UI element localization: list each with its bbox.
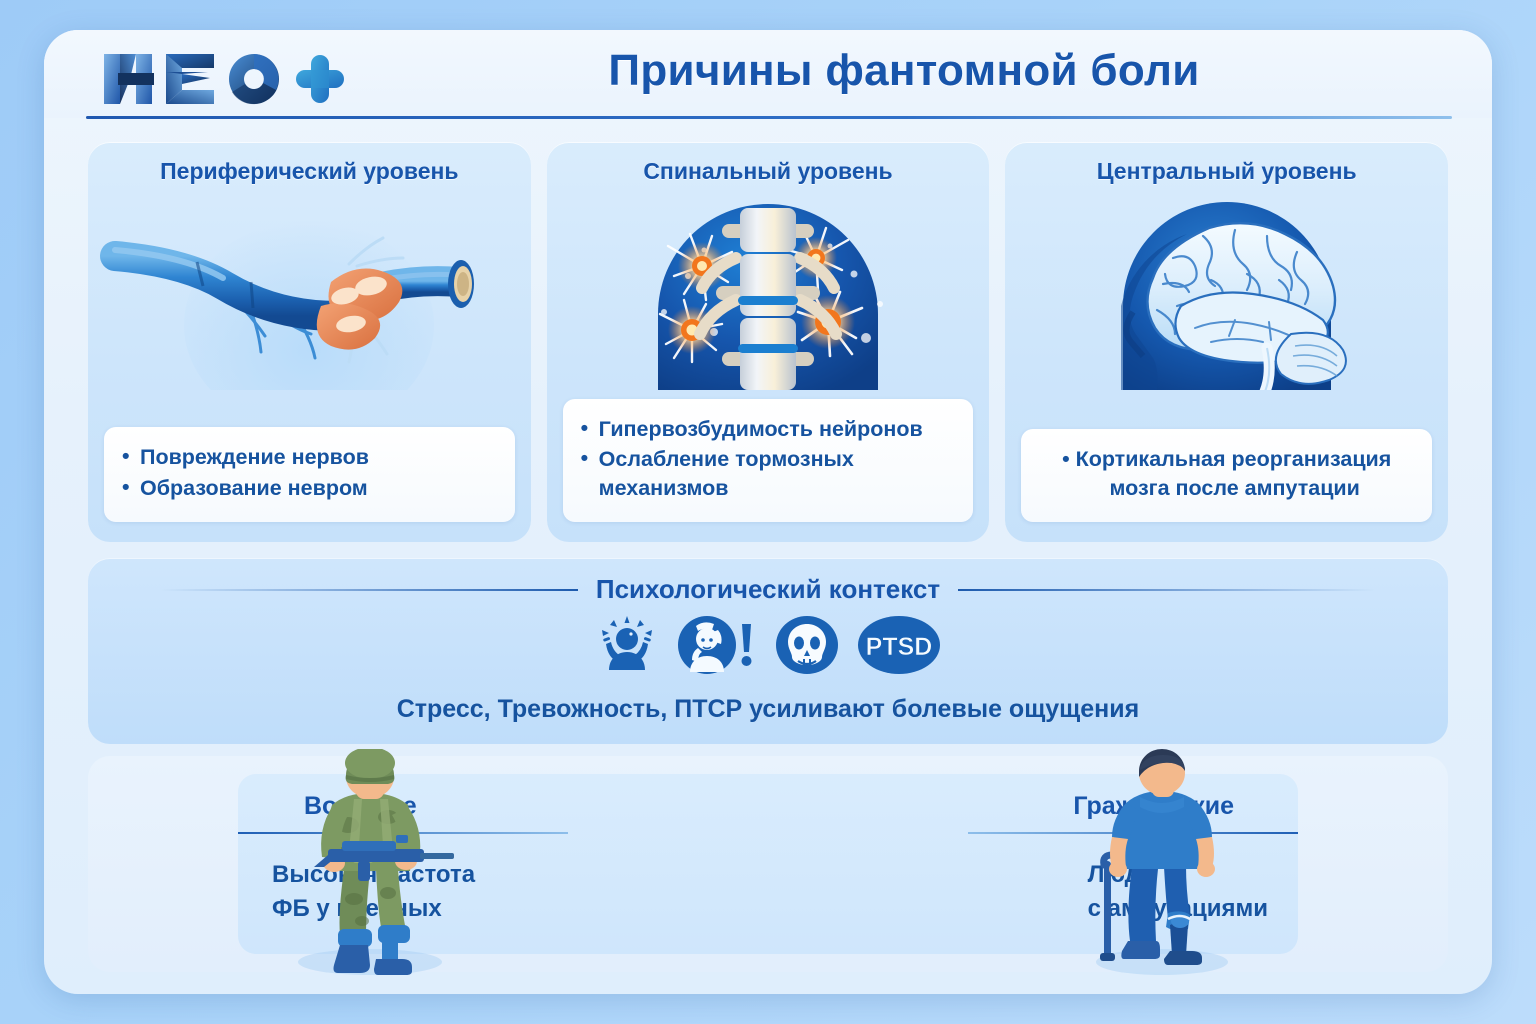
damaged-nerve-illustration bbox=[88, 200, 531, 390]
infographic-panel: Причины фантомной боли Периферический ур… bbox=[44, 30, 1492, 994]
level-bullets: Повреждение нервов Образование невром bbox=[104, 427, 515, 522]
bullet-item: Ослабление тормозных механизмов bbox=[581, 445, 956, 502]
level-title: Спинальный уровень bbox=[547, 158, 990, 185]
neo-plus-logo bbox=[96, 48, 346, 110]
level-bullets: Кортикальная реорганизация мозга после а… bbox=[1021, 429, 1432, 522]
groups-panel: Военные Высокая частота ФБ у военных Гра… bbox=[88, 756, 1448, 972]
psychological-caption: Стресс, Тревожность, ПТСР усиливают боле… bbox=[88, 695, 1448, 724]
psychological-context-panel: Психологический контекст bbox=[88, 558, 1448, 744]
svg-text:PTSD: PTSD bbox=[866, 633, 933, 661]
header-divider bbox=[86, 116, 1452, 119]
stress-person-icon bbox=[596, 616, 658, 679]
level-bullets: Гипервозбудимость нейронов Ослабление то… bbox=[563, 399, 974, 522]
levels-row: Периферический уровень bbox=[88, 142, 1448, 542]
page-title: Причины фантомной боли bbox=[374, 46, 1434, 96]
level-title: Центральный уровень bbox=[1005, 158, 1448, 185]
level-title: Периферический уровень bbox=[88, 158, 531, 185]
bullet-item: Кортикальная реорганизация мозга после а… bbox=[1039, 445, 1414, 502]
heading-rule-left bbox=[160, 589, 578, 591]
psychological-heading-row: Психологический контекст bbox=[88, 574, 1448, 605]
header-bar: Причины фантомной боли bbox=[44, 30, 1492, 118]
heading-rule-right bbox=[958, 589, 1376, 591]
level-card-peripheral[interactable]: Периферический уровень bbox=[88, 142, 531, 542]
soldier-with-prosthetic-leg-figure bbox=[270, 749, 470, 980]
ptsd-badge-icon: PTSD bbox=[858, 616, 940, 679]
psychological-icon-row: PTSD bbox=[88, 616, 1448, 678]
bullet-item: Гипервозбудимость нейронов bbox=[581, 415, 956, 443]
anxiety-person-exclamation-icon bbox=[678, 616, 756, 679]
civilian-with-cane-and-prosthetic-leg-figure bbox=[1070, 749, 1250, 980]
brain-head-illustration bbox=[1005, 200, 1448, 390]
spine-neurons-illustration bbox=[547, 200, 990, 390]
psychological-title: Психологический контекст bbox=[596, 574, 940, 605]
level-card-central[interactable]: Центральный уровень bbox=[1005, 142, 1448, 542]
bullet-item: Повреждение нервов bbox=[122, 443, 497, 471]
skull-icon bbox=[776, 616, 838, 679]
level-card-spinal[interactable]: Спинальный уровень bbox=[547, 142, 990, 542]
bullet-item: Образование невром bbox=[122, 474, 497, 502]
